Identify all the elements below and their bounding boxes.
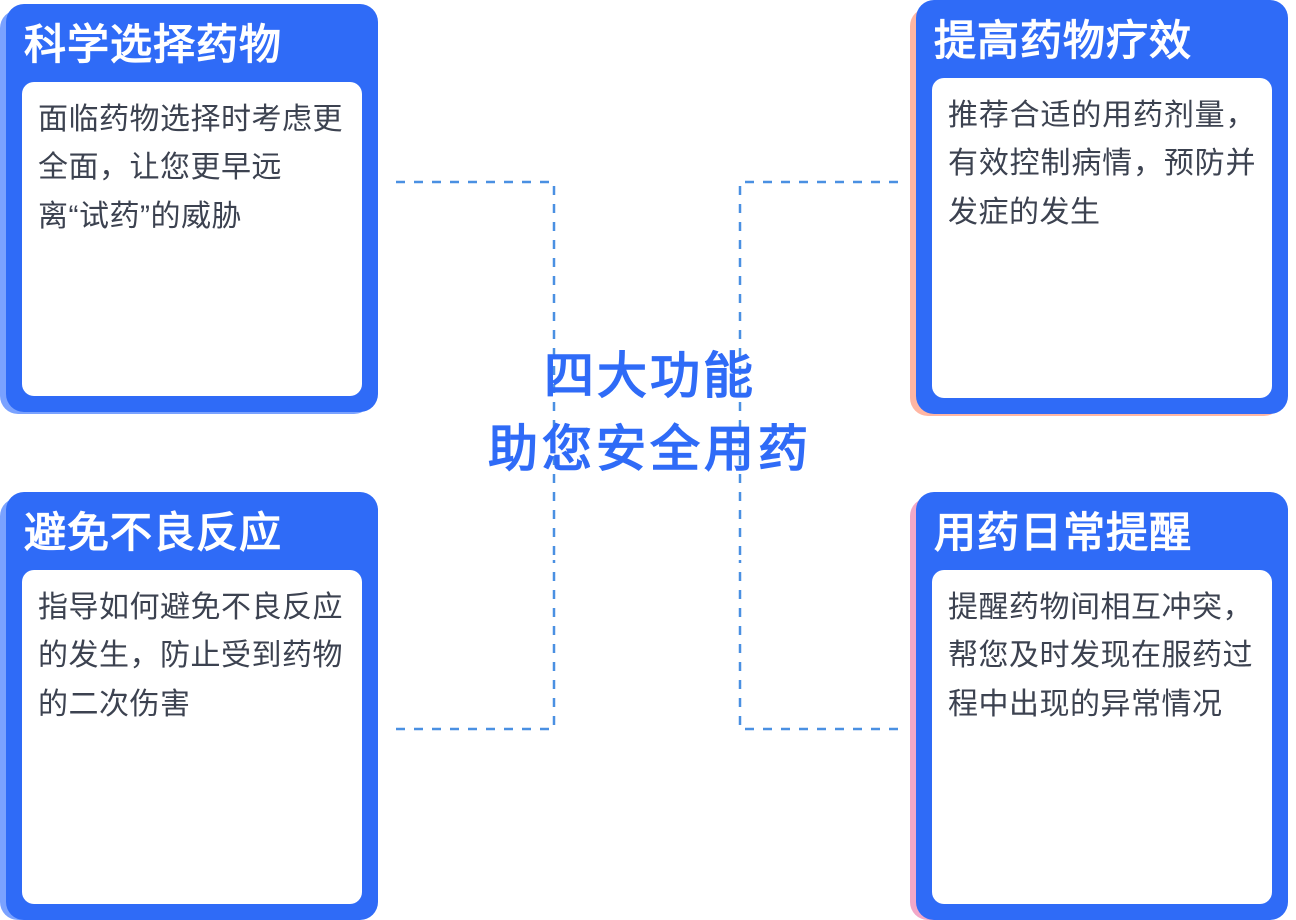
feature-card-body: 提醒药物间相互冲突，帮您及时发现在服药过程中出现的异常情况: [932, 570, 1272, 904]
infographic-canvas: 科学选择药物 面临药物选择时考虑更全面，让您更早远离“试药”的威胁 提高药物疗效…: [0, 0, 1296, 920]
feature-card-body: 面临药物选择时考虑更全面，让您更早远离“试药”的威胁: [22, 82, 362, 396]
feature-card-title: 避免不良反应: [24, 508, 362, 558]
feature-card-bottom-left[interactable]: 避免不良反应 指导如何避免不良反应的发生，防止受到药物的二次伤害: [6, 492, 378, 920]
feature-card-top-right[interactable]: 提高药物疗效 推荐合适的用药剂量，有效控制病情，预防并发症的发生: [916, 0, 1288, 414]
feature-card-title: 科学选择药物: [24, 20, 362, 70]
feature-card-body: 指导如何避免不良反应的发生，防止受到药物的二次伤害: [22, 570, 362, 904]
feature-card-top-left[interactable]: 科学选择药物 面临药物选择时考虑更全面，让您更早远离“试药”的威胁: [6, 4, 378, 412]
feature-card-title: 提高药物疗效: [934, 16, 1272, 66]
feature-card-title: 用药日常提醒: [934, 508, 1272, 558]
feature-card-body: 推荐合适的用药剂量，有效控制病情，预防并发症的发生: [932, 78, 1272, 398]
feature-card-bottom-right[interactable]: 用药日常提醒 提醒药物间相互冲突，帮您及时发现在服药过程中出现的异常情况: [916, 492, 1288, 920]
